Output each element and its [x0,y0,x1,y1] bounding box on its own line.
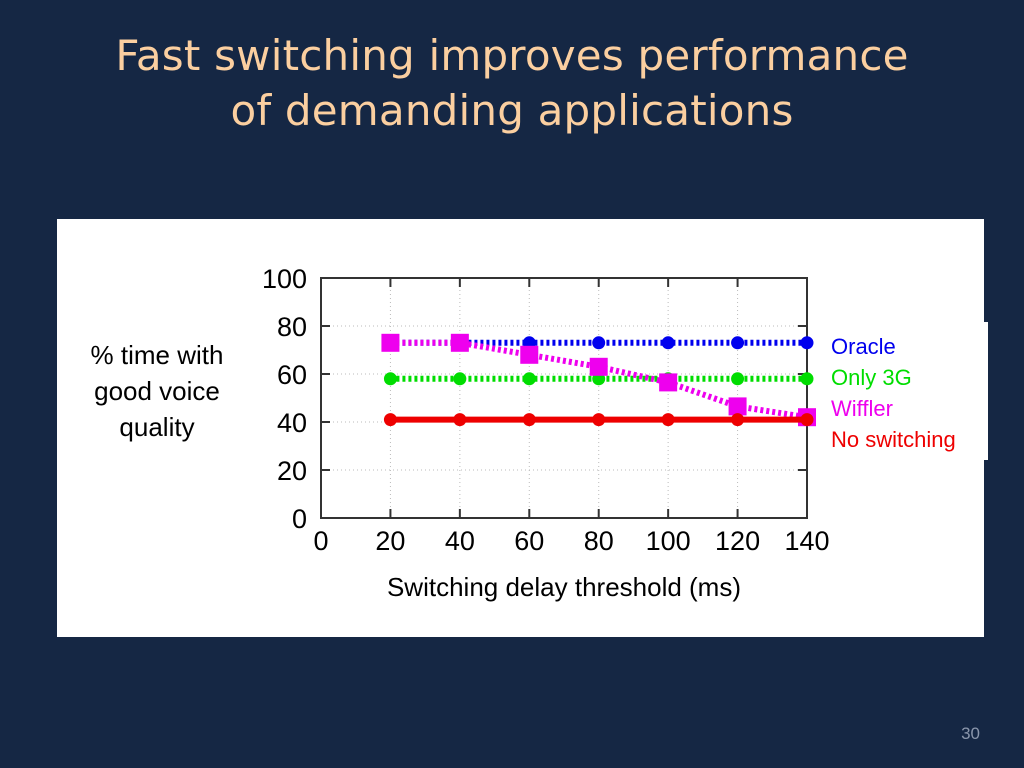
chart-data-point [523,413,536,426]
chart-data-point [384,413,397,426]
chart-series-no-switching [384,413,814,426]
legend-item-no-switching: No switching [831,427,956,452]
y-tick-label: 0 [292,504,307,534]
chart-y-tick-labels: 020406080100 [262,264,307,534]
chart-x-axis-title: Switching delay threshold (ms) [387,572,741,602]
legend-item-wiffler: Wiffler [831,396,893,421]
x-tick-label: 140 [784,526,829,556]
chart-data-point [520,346,538,364]
chart-data-point [381,334,399,352]
chart-data-point [662,413,675,426]
y-axis-title-line: % time with [91,340,224,370]
chart-data-point [729,397,747,415]
chart-legend: OracleOnly 3GWifflerNo switching [831,334,956,452]
y-axis-title-line: good voice [94,376,220,406]
content-card: 020406080100 020406080100120140 Switchin… [57,219,984,637]
y-tick-label: 20 [277,456,307,486]
x-tick-label: 40 [445,526,475,556]
chart-data-point [731,336,744,349]
x-tick-label: 60 [514,526,544,556]
legend-item-oracle: Oracle [831,334,896,359]
chart-data-point [384,372,397,385]
x-axis-title-text: Switching delay threshold (ms) [387,572,741,602]
x-tick-label: 20 [375,526,405,556]
page-title-line-2: of demanding applications [0,83,1024,138]
chart-data-point [590,358,608,376]
chart-data-point [662,336,675,349]
chart-data-point [659,373,677,391]
x-tick-label: 80 [584,526,614,556]
chart-series-oracle [384,336,814,349]
chart-figure: 020406080100 020406080100120140 Switchin… [57,219,984,637]
y-tick-label: 60 [277,360,307,390]
chart-data-point [731,372,744,385]
y-axis-title-line: quality [119,412,194,442]
chart-data-point [592,413,605,426]
y-tick-label: 80 [277,312,307,342]
chart-data-point [453,372,466,385]
x-tick-label: 100 [646,526,691,556]
x-tick-label: 0 [313,526,328,556]
chart-x-tick-labels: 020406080100120140 [313,526,829,556]
page-title-line-1: Fast switching improves performance [0,28,1024,83]
y-tick-label: 40 [277,408,307,438]
page-title: Fast switching improves performance of d… [0,28,1024,139]
chart-data-point [453,413,466,426]
chart-data-point [801,336,814,349]
chart-data-point [801,372,814,385]
chart-svg: 020406080100 020406080100120140 Switchin… [57,219,984,637]
chart-y-axis-title: % time withgood voicequality [91,340,224,442]
chart-data-point [523,372,536,385]
chart-data-point [731,413,744,426]
chart-data-point [592,336,605,349]
chart-series-group [381,334,816,426]
chart-data-point [801,413,814,426]
chart-data-point [451,334,469,352]
legend-item-only-3g: Only 3G [831,365,912,390]
slide-number: 30 [961,724,980,744]
x-tick-label: 120 [715,526,760,556]
y-tick-label: 100 [262,264,307,294]
